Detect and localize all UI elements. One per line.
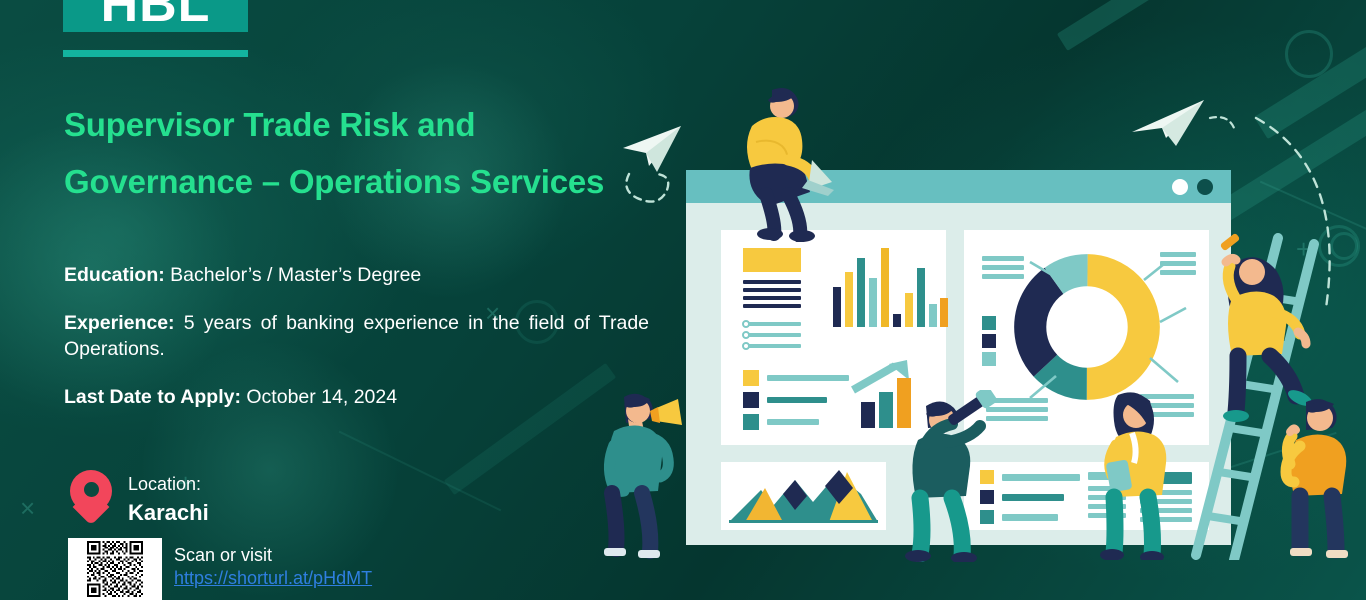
- education-value: Bachelor’s / Master’s Degree: [170, 264, 421, 286]
- area-chart-panel: [721, 462, 886, 530]
- job-poster: + × × + HBL Supervisor Trade Risk and Go…: [0, 0, 1366, 600]
- apply-url-link[interactable]: https://shorturl.at/pHdMT: [174, 568, 372, 588]
- brand-logo: HBL: [63, 0, 248, 57]
- scan-instruction: Scan or visit: [174, 544, 372, 567]
- location-pin-icon: [70, 470, 112, 524]
- person-standing-right: [1274, 392, 1366, 560]
- location-block: Location: Karachi: [70, 470, 209, 528]
- person-with-telescope: [896, 390, 1006, 562]
- window-dot-dark-icon[interactable]: [1197, 179, 1213, 195]
- detail-row-education: Education: Bachelor’s / Master’s Degree: [64, 262, 664, 288]
- detail-row-last-date: Last Date to Apply: October 14, 2024: [64, 384, 664, 410]
- apply-block: Scan or visit https://shorturl.at/pHdMT: [68, 538, 372, 600]
- last-date-value: October 14, 2024: [246, 386, 397, 408]
- logo-underline: [63, 50, 248, 57]
- job-details: Education: Bachelor’s / Master’s Degree …: [64, 262, 664, 432]
- location-label: Location:: [128, 472, 209, 496]
- qr-code-image: [71, 541, 159, 597]
- logo-box: HBL: [63, 0, 248, 32]
- last-date-label: Last Date to Apply:: [64, 386, 241, 408]
- qr-code[interactable]: [68, 538, 162, 600]
- paper-plane-right-icon: [1126, 88, 1236, 158]
- person-with-tablet: [1086, 385, 1196, 560]
- analytics-illustration: [586, 0, 1366, 600]
- education-label: Education:: [64, 264, 165, 286]
- person-with-laptop: [726, 82, 836, 242]
- location-city: Karachi: [128, 498, 209, 528]
- mountain-area-chart: [721, 462, 886, 530]
- window-dot-white-icon[interactable]: [1172, 179, 1188, 195]
- experience-label: Experience:: [64, 312, 175, 334]
- detail-row-experience: Experience: 5 years of banking experienc…: [64, 310, 649, 362]
- logo-text: HBL: [101, 0, 211, 32]
- person-with-megaphone: [594, 385, 694, 560]
